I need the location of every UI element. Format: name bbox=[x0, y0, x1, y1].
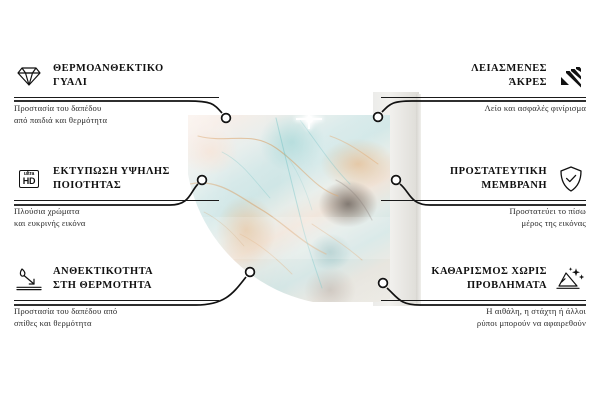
feature-description: Η αιθάλη, η στάχτη ή άλλοι ρύποι μπορούν… bbox=[381, 305, 586, 330]
feature-desc-line: Η αιθάλη, η στάχτη ή άλλοι bbox=[486, 306, 586, 316]
feature-header: ΠΡΟΣΤΑΤΕΥΤΙΚΗ ΜΕΜΒΡΑΝΗ bbox=[381, 163, 586, 195]
feature-divider bbox=[381, 200, 586, 201]
feature-desc-line: Λείο και ασφαλές φινίρισμα bbox=[485, 103, 586, 113]
shield-check-icon bbox=[556, 164, 586, 194]
infographic-page: ΘΕΡΜΟΑΝΘΕΚΤΙΚΟ ΓΥΑΛΙ Προστασία του δαπέδ… bbox=[0, 0, 600, 400]
feature-desc-line: Προστατεύει το πίσω bbox=[510, 206, 586, 216]
feature-title-line: ΕΚΤΥΠΩΣΗ ΥΨΗΛΗΣ bbox=[53, 166, 170, 177]
feature-header: ΛΕΙΑΣΜΕΝΕΣ ΆΚΡΕΣ bbox=[381, 60, 586, 92]
feature-divider bbox=[14, 200, 219, 201]
feature-description: Λείο και ασφαλές φινίρισμα bbox=[381, 102, 586, 114]
feature-divider bbox=[14, 97, 219, 98]
feature-title: ΕΚΤΥΠΩΣΗ ΥΨΗΛΗΣ ΠΟΙΟΤΗΤΑΣ bbox=[53, 165, 170, 193]
feature-title: ΑΝΘΕΚΤΙΚΟΤΗΤΑ ΣΤΗ ΘΕΡΜΟΤΗΤΑ bbox=[53, 265, 153, 293]
diamond-icon bbox=[14, 61, 44, 91]
feature-header: ultra HD ΕΚΤΥΠΩΣΗ ΥΨΗΛΗΣ ΠΟΙΟΤΗΤΑΣ bbox=[14, 163, 219, 195]
feature-title-line: ΣΤΗ ΘΕΡΜΟΤΗΤΑ bbox=[53, 280, 152, 291]
feature-title-line: ΛΕΙΑΣΜΕΝΕΣ bbox=[471, 63, 547, 74]
feature-title: ΠΡΟΣΤΑΤΕΥΤΙΚΗ ΜΕΜΒΡΑΝΗ bbox=[450, 165, 547, 193]
ultra-hd-icon-bottom: HD bbox=[23, 177, 36, 186]
feature-title: ΚΑΘΑΡΙΣΜΟΣ ΧΩΡΙΣ ΠΡΟΒΛΗΜΑΤΑ bbox=[431, 265, 547, 293]
feature-desc-line: ρύποι μπορούν να αφαιρεθούν bbox=[477, 318, 586, 328]
feature-title-line: ΠΟΙΟΤΗΤΑΣ bbox=[53, 180, 121, 191]
feature-high-quality-print: ultra HD ΕΚΤΥΠΩΣΗ ΥΨΗΛΗΣ ΠΟΙΟΤΗΤΑΣ Πλούσ… bbox=[14, 163, 219, 230]
feature-header: ΚΑΘΑΡΙΣΜΟΣ ΧΩΡΙΣ ΠΡΟΒΛΗΜΑΤΑ bbox=[381, 263, 586, 295]
ultra-hd-icon: ultra HD bbox=[14, 164, 44, 194]
feature-divider bbox=[381, 300, 586, 301]
feature-heat-durability: ΑΝΘΕΚΤΙΚΟΤΗΤΑ ΣΤΗ ΘΕΡΜΟΤΗΤΑ Προστασία το… bbox=[14, 263, 219, 330]
feature-desc-line: και ευκρινής εικόνα bbox=[14, 218, 86, 228]
feature-header: ΑΝΘΕΚΤΙΚΟΤΗΤΑ ΣΤΗ ΘΕΡΜΟΤΗΤΑ bbox=[14, 263, 219, 295]
feature-divider bbox=[14, 300, 219, 301]
feature-title-line: ΑΝΘΕΚΤΙΚΟΤΗΤΑ bbox=[53, 266, 153, 277]
feature-description: Προστασία του δαπέδου από παιδιά και θερ… bbox=[14, 102, 219, 127]
feature-title-line: ΓΥΑΛΙ bbox=[53, 77, 87, 88]
feature-description: Προστατεύει το πίσω μέρος της εικόνας bbox=[381, 205, 586, 230]
feature-title: ΛΕΙΑΣΜΕΝΕΣ ΆΚΡΕΣ bbox=[471, 62, 547, 90]
feature-desc-line: Προστασία του δαπέδου από bbox=[14, 306, 117, 316]
feature-title: ΘΕΡΜΟΑΝΘΕΚΤΙΚΟ ΓΥΑΛΙ bbox=[53, 62, 164, 90]
feature-trouble-free-cleaning: ΚΑΘΑΡΙΣΜΟΣ ΧΩΡΙΣ ΠΡΟΒΛΗΜΑΤΑ Η αιθάλη, η … bbox=[381, 263, 586, 330]
feature-description: Πλούσια χρώματα και ευκρινής εικόνα bbox=[14, 205, 219, 230]
feature-title-line: ΜΕΜΒΡΑΝΗ bbox=[481, 180, 547, 191]
feature-title-line: ΠΡΟΣΤΑΤΕΥΤΙΚΗ bbox=[450, 166, 547, 177]
feature-description: Προστασία του δαπέδου από σπίθες και θερ… bbox=[14, 305, 219, 330]
feature-desc-line: σπίθες και θερμότητα bbox=[14, 318, 92, 328]
flame-on-surface-icon bbox=[14, 264, 44, 294]
feature-desc-line: Πλούσια χρώματα bbox=[14, 206, 80, 216]
feature-title-line: ΚΑΘΑΡΙΣΜΟΣ ΧΩΡΙΣ bbox=[431, 266, 547, 277]
feature-desc-line: Προστασία του δαπέδου bbox=[14, 103, 101, 113]
feature-header: ΘΕΡΜΟΑΝΘΕΚΤΙΚΟ ΓΥΑΛΙ bbox=[14, 60, 219, 92]
feature-divider bbox=[381, 97, 586, 98]
feature-protective-membrane: ΠΡΟΣΤΑΤΕΥΤΙΚΗ ΜΕΜΒΡΑΝΗ Προστατεύει το πί… bbox=[381, 163, 586, 230]
sparkle-clean-icon bbox=[556, 264, 586, 294]
feature-title-line: ΆΚΡΕΣ bbox=[509, 77, 547, 88]
feature-desc-line: από παιδιά και θερμότητα bbox=[14, 115, 107, 125]
diagonal-stripes-icon bbox=[556, 61, 586, 91]
feature-title-line: ΠΡΟΒΛΗΜΑΤΑ bbox=[467, 280, 547, 291]
feature-polished-edges: ΛΕΙΑΣΜΕΝΕΣ ΆΚΡΕΣ Λείο και ασφαλές φινίρι… bbox=[381, 60, 586, 114]
feature-heat-resistant-glass: ΘΕΡΜΟΑΝΘΕΚΤΙΚΟ ΓΥΑΛΙ Προστασία του δαπέδ… bbox=[14, 60, 219, 127]
feature-title-line: ΘΕΡΜΟΑΝΘΕΚΤΙΚΟ bbox=[53, 63, 164, 74]
feature-desc-line: μέρος της εικόνας bbox=[521, 218, 586, 228]
